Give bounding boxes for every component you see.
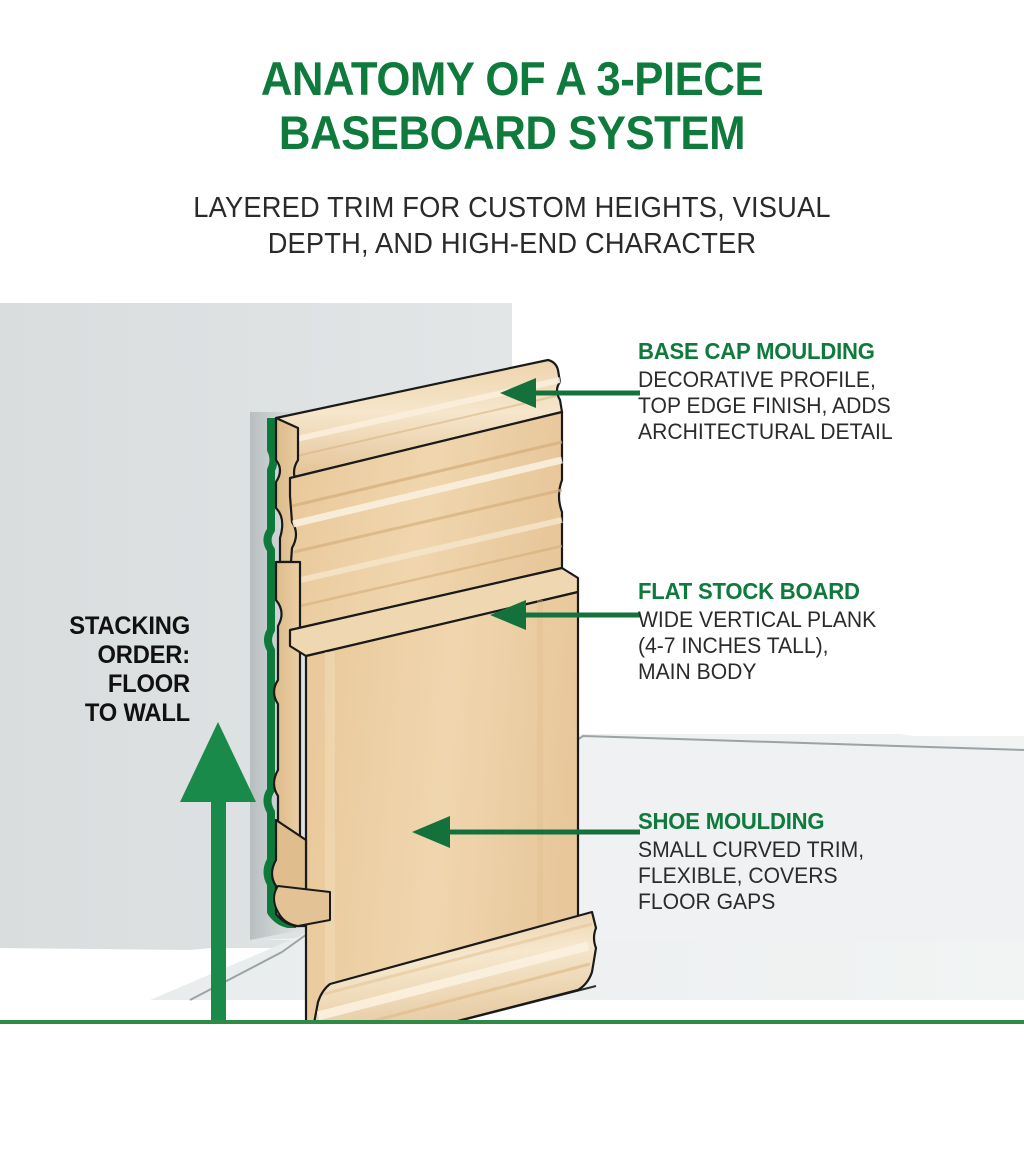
label-base-cap-moulding: BASE CAP MOULDING DECORATIVE PROFILE, TO… (638, 338, 968, 445)
label-heading: SHOE MOULDING (638, 808, 955, 835)
stacking-order-line1: STACKING (19, 612, 190, 641)
page-subtitle-line1: LAYERED TRIM FOR CUSTOM HEIGHTS, VISUAL (31, 190, 994, 226)
header: ANATOMY OF A 3-PIECE BASEBOARD SYSTEM LA… (0, 0, 1024, 300)
label-flat-stock-board: FLAT STOCK BOARD WIDE VERTICAL PLANK (4-… (638, 578, 968, 685)
label-body-line1: SMALL CURVED TRIM, (638, 837, 955, 863)
label-heading: FLAT STOCK BOARD (638, 578, 955, 605)
label-body-line2: (4-7 INCHES TALL), (638, 633, 955, 659)
label-body: SMALL CURVED TRIM, FLEXIBLE, COVERS FLOO… (638, 837, 955, 915)
stacking-order-line2: ORDER: (19, 641, 190, 670)
page-subtitle-line2: DEPTH, AND HIGH-END CHARACTER (31, 226, 994, 262)
infographic-root: ANATOMY OF A 3-PIECE BASEBOARD SYSTEM LA… (0, 0, 1024, 1154)
label-shoe-moulding: SHOE MOULDING SMALL CURVED TRIM, FLEXIBL… (638, 808, 968, 915)
stacking-order-caption: STACKING ORDER: FLOOR TO WALL (19, 612, 190, 728)
stacking-order-line3: FLOOR (19, 670, 190, 699)
label-body: WIDE VERTICAL PLANK (4-7 INCHES TALL), M… (638, 607, 955, 685)
page-title-line2: BASEBOARD SYSTEM (36, 106, 988, 160)
label-body-line2: FLEXIBLE, COVERS (638, 863, 955, 889)
stacking-order-line4: TO WALL (19, 699, 190, 728)
footer: K&B Direct kandbdirect.com (0, 1024, 1024, 1154)
page-title-line1: ANATOMY OF A 3-PIECE (36, 52, 988, 106)
label-body: DECORATIVE PROFILE, TOP EDGE FINISH, ADD… (638, 367, 955, 445)
label-body-line1: DECORATIVE PROFILE, (638, 367, 955, 393)
page-title: ANATOMY OF A 3-PIECE BASEBOARD SYSTEM (36, 52, 988, 160)
label-body-line3: ARCHITECTURAL DETAIL (638, 419, 955, 445)
label-body-line3: FLOOR GAPS (638, 889, 955, 915)
page-subtitle: LAYERED TRIM FOR CUSTOM HEIGHTS, VISUAL … (31, 190, 994, 262)
label-body-line3: MAIN BODY (638, 659, 955, 685)
label-heading: BASE CAP MOULDING (638, 338, 955, 365)
label-body-line2: TOP EDGE FINISH, ADDS (638, 393, 955, 419)
label-body-line1: WIDE VERTICAL PLANK (638, 607, 955, 633)
